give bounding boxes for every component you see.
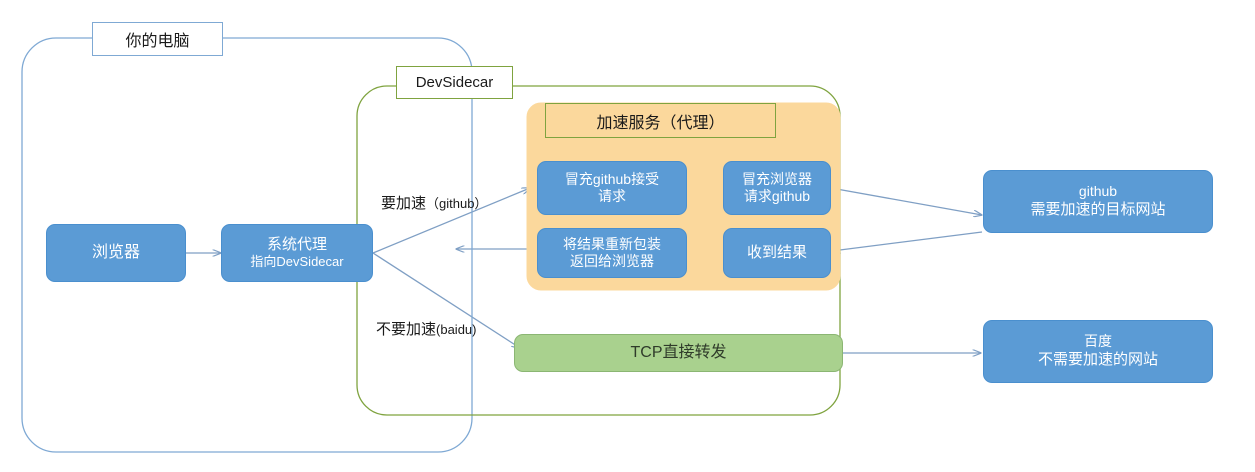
- node-browser-label: 浏览器: [92, 243, 140, 263]
- proxy-panel-label-text: 加速服务（代理）: [596, 109, 724, 133]
- proxy-panel-label: 加速服务（代理）: [545, 103, 776, 138]
- arrow-github-to-gotresult: [832, 232, 982, 251]
- node-repackage-result[interactable]: 将结果重新包装 返回给浏览器: [537, 228, 687, 278]
- computer-container-label: 你的电脑: [92, 22, 223, 56]
- node-github-target-line1: github: [1079, 183, 1117, 201]
- node-baidu-site[interactable]: 百度 不需要加速的网站: [983, 320, 1213, 383]
- node-system-proxy-line1: 系统代理: [267, 236, 327, 255]
- edge-label-no-accelerate-paren: (baidu): [436, 322, 476, 337]
- node-got-result[interactable]: 收到结果: [723, 228, 831, 278]
- node-baidu-site-line2: 不需要加速的网站: [1038, 351, 1158, 370]
- edge-label-accelerate-paren: （github）: [426, 196, 487, 211]
- edge-label-accelerate: 要加速（github）: [381, 192, 487, 213]
- edge-label-accelerate-cn: 要加速: [381, 195, 426, 212]
- edge-label-no-accelerate-cn: 不要加速: [376, 321, 436, 338]
- node-system-proxy[interactable]: 系统代理 指向DevSidecar: [221, 224, 373, 282]
- node-tcp-forward[interactable]: TCP直接转发: [514, 334, 843, 372]
- devsidecar-container-label-text: DevSidecar: [416, 74, 494, 91]
- diagram-canvas: 你的电脑 DevSidecar 加速服务（代理） 浏览器 系统代理 指向DevS…: [0, 0, 1255, 472]
- devsidecar-container-label: DevSidecar: [396, 66, 513, 99]
- node-browser[interactable]: 浏览器: [46, 224, 186, 282]
- node-repackage-result-line1: 将结果重新包装: [563, 236, 661, 254]
- node-baidu-site-line1: 百度: [1084, 333, 1112, 351]
- node-repackage-result-line2: 返回给浏览器: [570, 253, 654, 271]
- node-github-target-line2: 需要加速的目标网站: [1030, 201, 1165, 220]
- node-tcp-forward-label: TCP直接转发: [630, 343, 726, 363]
- node-system-proxy-line2: 指向DevSidecar: [250, 254, 343, 270]
- node-fake-browser-request-line2: 请求github: [744, 188, 810, 206]
- node-fake-browser-request-line1: 冒充浏览器: [742, 171, 812, 189]
- node-fake-github-accept[interactable]: 冒充github接受 请求: [537, 161, 687, 215]
- node-fake-github-accept-line1: 冒充github接受: [565, 171, 659, 189]
- arrow-fakebrowser-to-github: [831, 188, 982, 215]
- edge-label-no-accelerate: 不要加速(baidu): [376, 318, 476, 339]
- node-github-target[interactable]: github 需要加速的目标网站: [983, 170, 1213, 233]
- node-fake-github-accept-line2: 请求: [598, 188, 626, 206]
- computer-container-label-text: 你的电脑: [125, 27, 189, 51]
- node-fake-browser-request[interactable]: 冒充浏览器 请求github: [723, 161, 831, 215]
- node-got-result-label: 收到结果: [747, 244, 807, 263]
